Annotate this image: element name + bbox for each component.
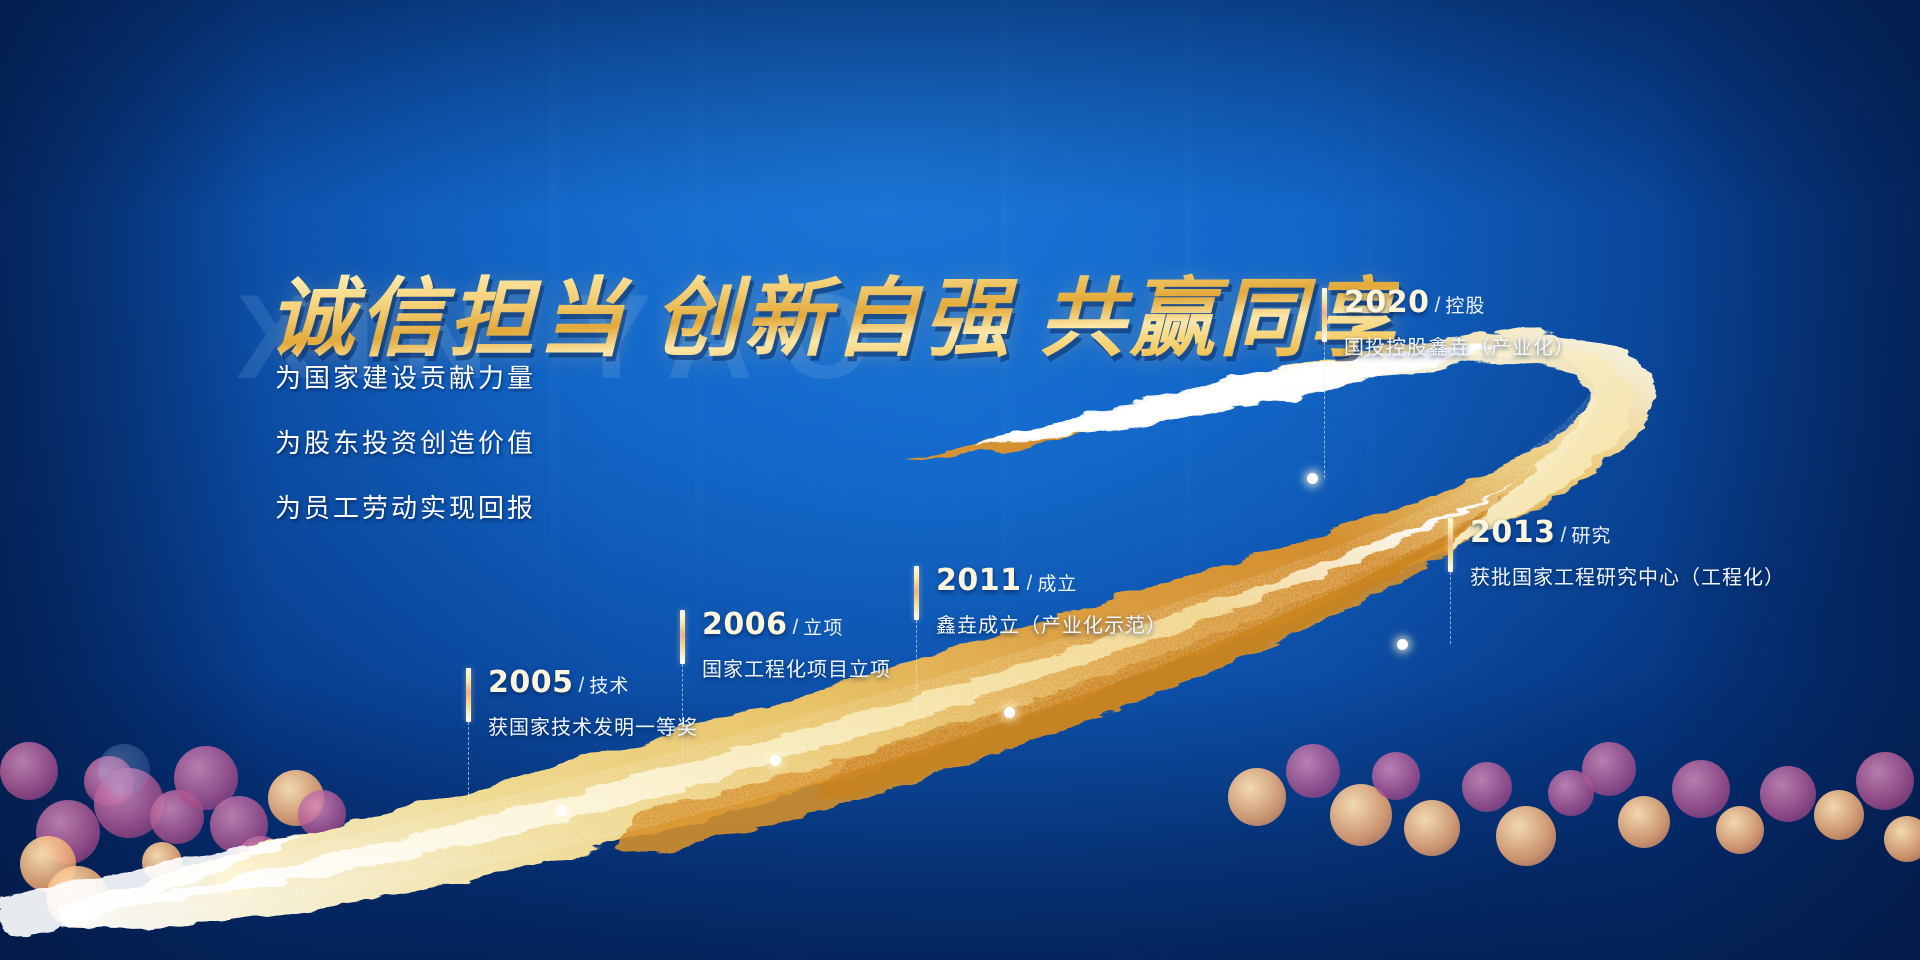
milestone-description: 国投控股鑫垚（产业化） <box>1344 331 1575 360</box>
bokeh-circle <box>214 854 258 898</box>
milestone-category: 技术 <box>589 676 629 697</box>
milestone-separator: / <box>1022 572 1038 595</box>
tagline-list: 为国家建设贡献力量为股东投资创造价值为员工劳动实现回报 <box>275 358 536 553</box>
bokeh-circle <box>1462 762 1512 812</box>
bokeh-circle <box>1760 766 1816 822</box>
milestone-leader-line <box>468 722 469 810</box>
bokeh-circle <box>1286 744 1340 798</box>
milestone-category: 成立 <box>1037 574 1077 595</box>
bokeh-circle <box>1372 752 1420 800</box>
milestone-description: 获国家技术发明一等奖 <box>488 711 698 740</box>
tagline-item: 为国家建设贡献力量 <box>275 358 536 395</box>
milestone-description: 国家工程化项目立项 <box>702 653 891 682</box>
milestone-leader-line <box>1324 342 1325 478</box>
milestone-year: 2013 <box>1470 515 1556 550</box>
tagline-item: 为员工劳动实现回报 <box>275 488 536 525</box>
milestone-separator: / <box>1556 524 1572 547</box>
milestone-accent-bar <box>680 610 685 664</box>
page-title: 诚信担当 创新自强 共赢同享 <box>268 248 1399 373</box>
milestone-separator: / <box>1430 294 1446 317</box>
bokeh-circle <box>0 742 58 800</box>
milestone-text: 2013/研究获批国家工程研究中心（工程化） <box>1470 518 1785 590</box>
milestone-heading: 2020/控股 <box>1344 288 1575 318</box>
timeline-milestone[interactable]: 2013/研究获批国家工程研究中心（工程化） <box>1448 518 1785 590</box>
milestone-node-dot[interactable] <box>1307 473 1318 484</box>
milestone-separator: / <box>574 674 590 697</box>
milestone-node-dot[interactable] <box>556 805 567 816</box>
bokeh-circle <box>1814 790 1864 840</box>
milestone-heading: 2013/研究 <box>1470 518 1785 548</box>
milestone-text: 2005/技术获国家技术发明一等奖 <box>488 668 698 740</box>
milestone-node-dot[interactable] <box>770 755 781 766</box>
bokeh-circle <box>1404 800 1460 856</box>
bokeh-circle <box>1228 768 1286 826</box>
bokeh-circle <box>1582 742 1636 796</box>
timeline-milestone[interactable]: 2011/成立鑫垚成立（产业化示范） <box>914 566 1167 638</box>
bokeh-circle <box>46 866 108 928</box>
milestone-description: 鑫垚成立（产业化示范） <box>936 609 1167 638</box>
tagline-item: 为股东投资创造价值 <box>275 423 536 460</box>
timeline-milestone[interactable]: 2005/技术获国家技术发明一等奖 <box>466 668 698 740</box>
bokeh-circle <box>1856 752 1914 810</box>
bokeh-circle <box>298 790 346 838</box>
milestone-accent-bar <box>914 566 919 620</box>
timeline-milestone[interactable]: 2020/控股国投控股鑫垚（产业化） <box>1322 288 1575 360</box>
milestone-category: 研究 <box>1571 526 1611 547</box>
milestone-node-dot[interactable] <box>1004 707 1015 718</box>
milestone-heading: 2005/技术 <box>488 668 698 698</box>
timeline-milestone[interactable]: 2006/立项国家工程化项目立项 <box>680 610 891 682</box>
milestone-text: 2006/立项国家工程化项目立项 <box>702 610 891 682</box>
milestone-accent-bar <box>466 668 471 722</box>
milestone-category: 立项 <box>803 618 843 639</box>
milestone-text: 2020/控股国投控股鑫垚（产业化） <box>1344 288 1575 360</box>
milestone-leader-line <box>916 620 917 712</box>
milestone-accent-bar <box>1322 288 1327 342</box>
bokeh-circle <box>142 842 182 882</box>
milestone-year: 2006 <box>702 607 788 642</box>
milestone-text: 2011/成立鑫垚成立（产业化示范） <box>936 566 1167 638</box>
milestone-year: 2020 <box>1344 285 1430 320</box>
bokeh-circle <box>1496 806 1556 866</box>
bokeh-circle <box>98 744 150 796</box>
bokeh-circle <box>1618 796 1670 848</box>
milestone-node-dot[interactable] <box>1397 639 1408 650</box>
milestone-separator: / <box>788 616 804 639</box>
bokeh-circle <box>1672 760 1730 818</box>
milestone-heading: 2011/成立 <box>936 566 1167 596</box>
milestone-leader-line <box>1450 572 1451 644</box>
bokeh-circle <box>1716 806 1764 854</box>
milestone-year: 2005 <box>488 665 574 700</box>
milestone-accent-bar <box>1448 518 1453 572</box>
milestone-category: 控股 <box>1445 296 1485 317</box>
banner-stage: XIN YAO 诚信担当 创新自强 共赢同享 为国家建设贡献力量为股东投资创造价… <box>0 0 1920 960</box>
milestone-year: 2011 <box>936 563 1022 598</box>
milestone-heading: 2006/立项 <box>702 610 891 640</box>
milestone-description: 获批国家工程研究中心（工程化） <box>1470 561 1785 590</box>
milestone-leader-line <box>682 664 683 760</box>
